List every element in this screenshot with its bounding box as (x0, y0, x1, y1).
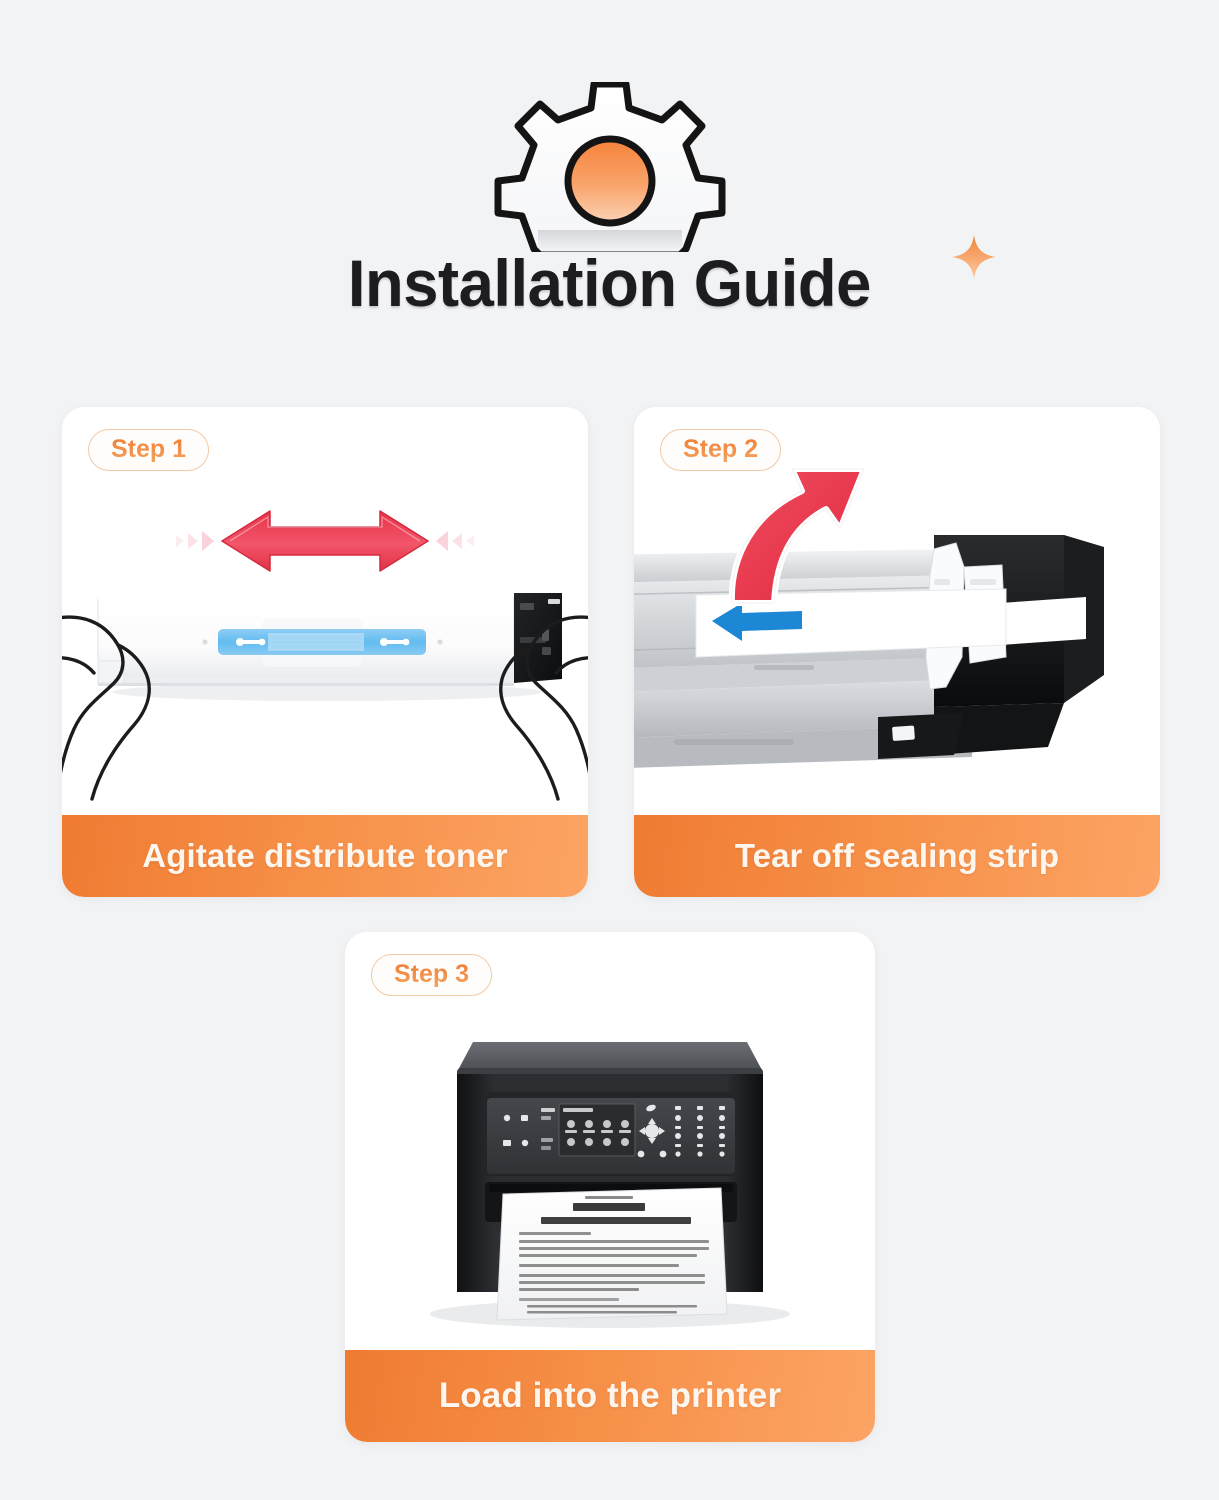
step-badge-3: Step 3 (371, 954, 492, 996)
sparkle-icon (951, 234, 997, 280)
step-caption-bar-1: Agitate distribute toner (62, 815, 588, 897)
step-badge-3-label: Step 3 (394, 960, 469, 988)
step-badge-1: Step 1 (88, 429, 209, 471)
step-badge-1-label: Step 1 (111, 435, 186, 463)
printed-page (497, 1188, 727, 1320)
step-caption-1: Agitate distribute toner (142, 837, 507, 875)
double-arrow-icon (222, 511, 428, 571)
page-title: Installation Guide (348, 250, 871, 316)
step-caption-2: Tear off sealing strip (735, 837, 1059, 875)
step-caption-bar-3: Load into the printer (345, 1350, 875, 1442)
gear-icon (490, 82, 730, 252)
step-badge-2: Step 2 (660, 429, 781, 471)
step-caption-3: Load into the printer (439, 1376, 781, 1416)
toner-cartridge (98, 593, 562, 686)
step-caption-bar-2: Tear off sealing strip (634, 815, 1160, 897)
step-card-2: Step 2 (634, 407, 1160, 897)
step-badge-2-label: Step 2 (683, 435, 758, 463)
header: Installation Guide (0, 0, 1219, 370)
page-title-row: Installation Guide (0, 250, 1219, 316)
step-card-3: Step 3 (345, 932, 875, 1442)
step-card-1: Step 1 (62, 407, 588, 897)
